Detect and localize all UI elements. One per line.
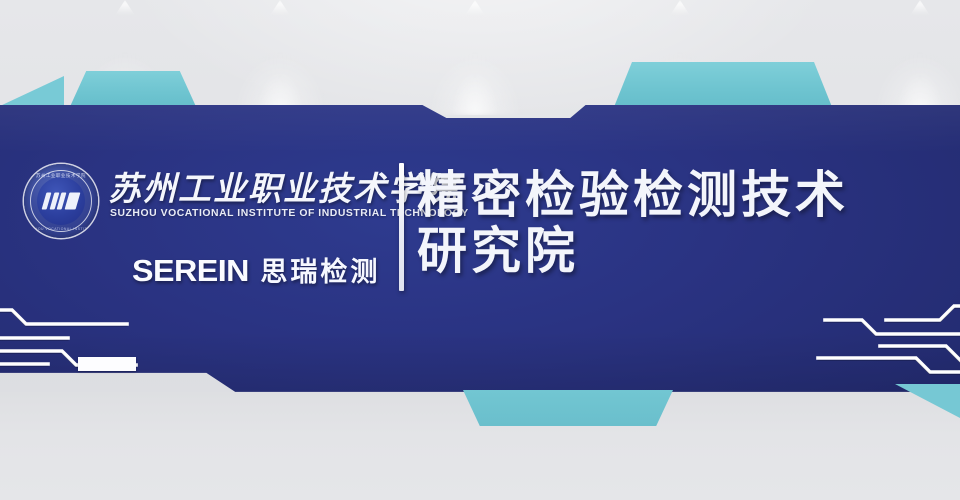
exhibition-backdrop-scene: 苏州工业职业技术学院 SUZHOU VOCATIONAL INSTITUTE 苏…: [0, 0, 960, 500]
emblem-arc-bottom-text: SUZHOU VOCATIONAL INSTITUTE: [24, 227, 98, 231]
teal-trapezoid-small: [68, 71, 198, 111]
vertical-divider-bar: [399, 163, 404, 291]
teal-trapezoid-bottom: [463, 390, 673, 426]
headline-line-2: 研究院: [417, 223, 947, 279]
emblem-arc-top-text: 苏州工业职业技术学院: [24, 173, 98, 179]
emblem-monogram-icon: [44, 193, 78, 210]
university-name-en: SUZHOU VOCATIONAL INSTITUTE OF INDUSTRIA…: [110, 208, 469, 219]
university-emblem-icon: 苏州工业职业技术学院 SUZHOU VOCATIONAL INSTITUTE: [24, 164, 98, 238]
brand-block: 苏州工业职业技术学院 SUZHOU VOCATIONAL INSTITUTE 苏…: [22, 160, 397, 290]
headline-line-1: 精密检验检测技术: [417, 167, 849, 223]
partner-name-en: SEREIN: [132, 253, 249, 289]
partner-logo-lockup: SEREIN 思瑞检测: [132, 250, 380, 289]
teal-trapezoid-large: [612, 62, 834, 112]
university-name-cn: 苏州工业职业技术学院: [108, 162, 458, 210]
institute-headline: 精密检验检测技术 研究院: [417, 167, 947, 279]
partner-name-cn: 思瑞检测: [260, 250, 380, 289]
panel-white-notch: [78, 357, 136, 371]
